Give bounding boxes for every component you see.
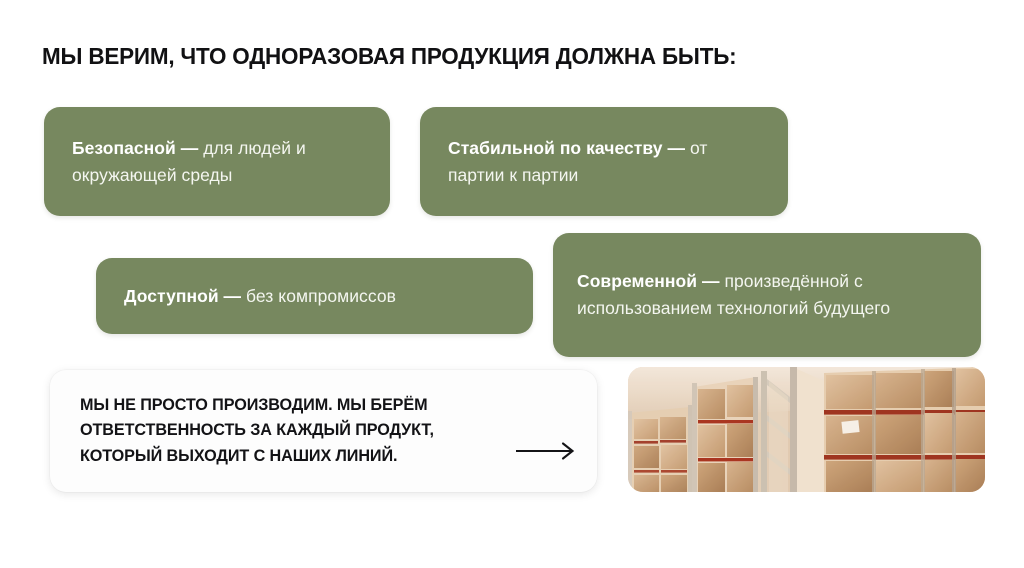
feature-card-modern-text: Современной — произведённой с использова… [577, 268, 963, 322]
arrow-right-icon[interactable] [513, 370, 579, 492]
feature-card-modern: Современной — произведённой с использова… [553, 233, 981, 357]
feature-card-affordable-rest: без компромиссов [241, 286, 396, 306]
feature-card-stable-lead: Стабильной по качеству — [448, 138, 685, 158]
feature-card-affordable: Доступной — без компромиссов [96, 258, 533, 334]
feature-card-safe-text: Безопасной — для людей и окружающей сред… [72, 135, 368, 189]
warehouse-photo [628, 367, 985, 492]
slide-root: МЫ ВЕРИМ, ЧТО ОДНОРАЗОВАЯ ПРОДУКЦИЯ ДОЛЖ… [0, 0, 1024, 568]
feature-card-affordable-lead: Доступной — [124, 286, 241, 306]
feature-card-safe-lead: Безопасной — [72, 138, 198, 158]
statement-card: МЫ НЕ ПРОСТО ПРОИЗВОДИМ. МЫ БЕРЁМ ОТВЕТС… [50, 370, 597, 492]
feature-card-stable-text: Стабильной по качеству — от партии к пар… [448, 135, 768, 189]
feature-card-safe: Безопасной — для людей и окружающей сред… [44, 107, 390, 216]
statement-text: МЫ НЕ ПРОСТО ПРОИЗВОДИМ. МЫ БЕРЁМ ОТВЕТС… [80, 393, 513, 470]
feature-card-modern-lead: Современной — [577, 271, 720, 291]
feature-card-stable: Стабильной по качеству — от партии к пар… [420, 107, 788, 216]
feature-card-affordable-text: Доступной — без компромиссов [124, 283, 396, 310]
page-title: МЫ ВЕРИМ, ЧТО ОДНОРАЗОВАЯ ПРОДУКЦИЯ ДОЛЖ… [42, 42, 882, 70]
